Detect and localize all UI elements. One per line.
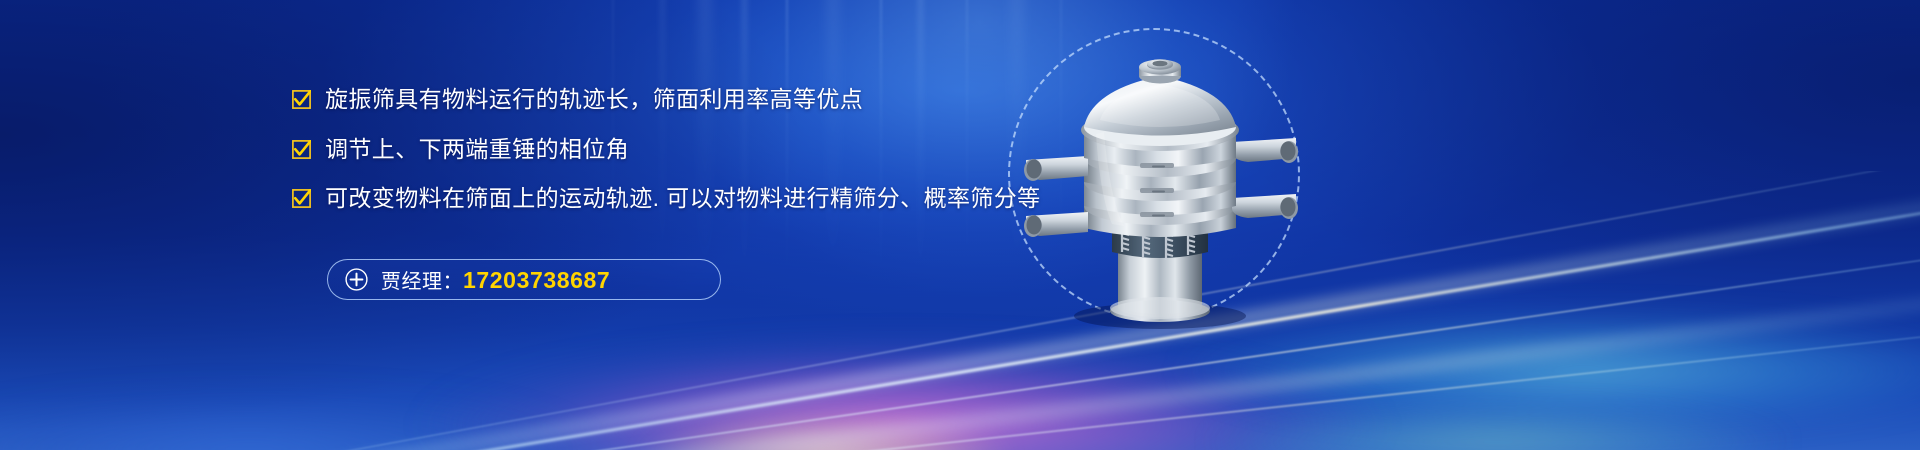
aurora-decoration [0, 171, 1920, 450]
list-item: 调节上、下两端重锤的相位角 [292, 136, 1052, 164]
contact-phone: 17203738687 [463, 267, 610, 293]
feature-text: 调节上、下两端重锤的相位角 [325, 136, 629, 164]
plus-circle-icon [345, 268, 368, 291]
contact-separator: ： [443, 271, 464, 293]
contact-button[interactable]: 贾经理：17203738687 [327, 259, 721, 300]
list-item: 可改变物料在筛面上的运动轨迹. 可以对物料进行精筛分、概率筛分等 [292, 185, 1052, 213]
list-item: 旋振筛具有物料运行的轨迹长，筛面利用率高等优点 [292, 86, 1052, 114]
feature-list: 旋振筛具有物料运行的轨迹长，筛面利用率高等优点 调节上、下两端重锤的相位角 可改… [292, 86, 1052, 213]
contact-text: 贾经理：17203738687 [381, 265, 610, 294]
promo-banner: 旋振筛具有物料运行的轨迹长，筛面利用率高等优点 调节上、下两端重锤的相位角 可改… [0, 0, 1920, 450]
feature-text: 旋振筛具有物料运行的轨迹长，筛面利用率高等优点 [325, 86, 863, 114]
checkbox-checked-icon [292, 189, 311, 208]
checkbox-checked-icon [292, 90, 311, 109]
contact-name: 贾经理 [381, 271, 443, 293]
feature-text: 可改变物料在筛面上的运动轨迹. 可以对物料进行精筛分、概率筛分等 [325, 185, 1041, 213]
checkbox-checked-icon [292, 140, 311, 159]
